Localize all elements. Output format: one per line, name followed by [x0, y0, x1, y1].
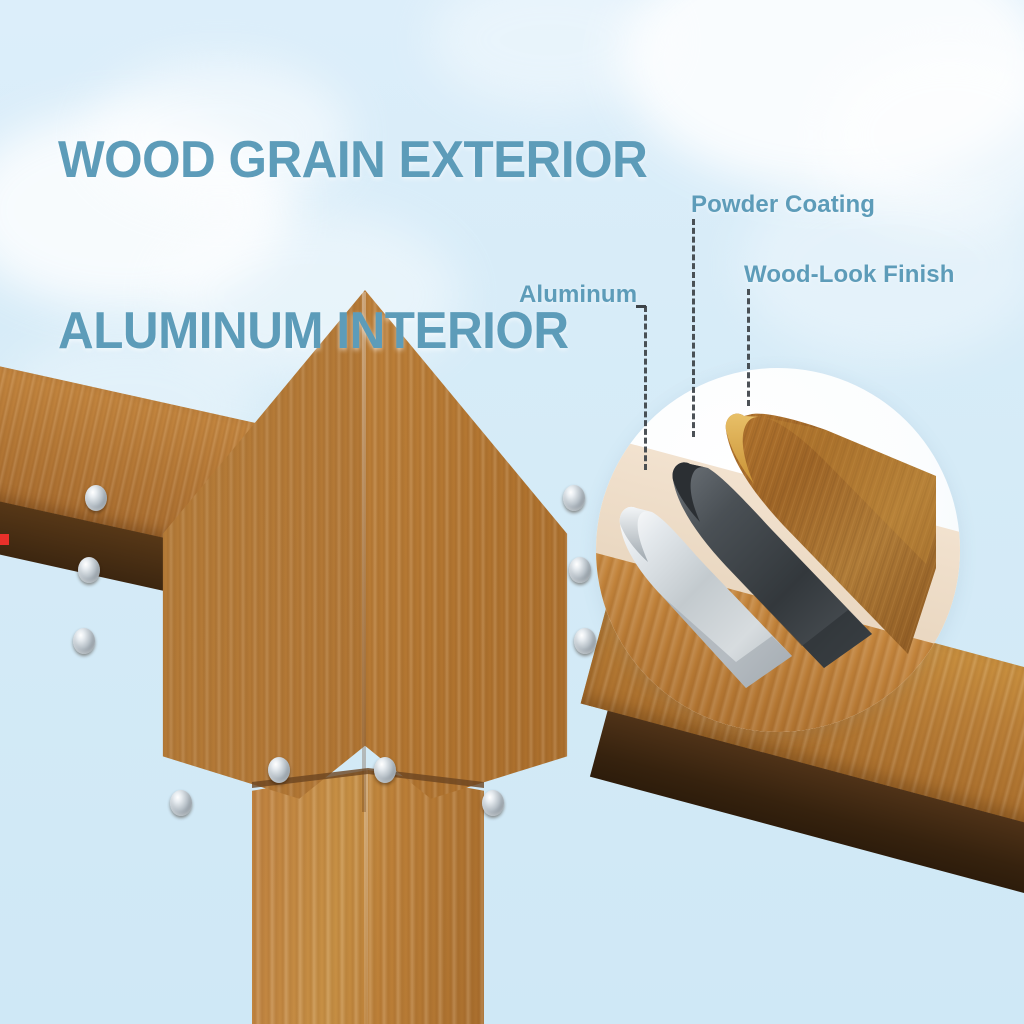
chrome-bolt — [170, 790, 192, 816]
chrome-bolt — [268, 757, 290, 783]
page-title: WOOD GRAIN EXTERIOR ALUMINUM INTERIOR — [58, 18, 913, 474]
chrome-bolt — [78, 557, 100, 583]
chrome-bolt — [569, 557, 591, 583]
chrome-bolt — [374, 757, 396, 783]
chrome-bolt — [85, 485, 107, 511]
vertical-post — [252, 770, 484, 1024]
chrome-bolt — [73, 628, 95, 654]
product-feature-image: Aluminum Powder Coating Wood-Look Finish… — [0, 0, 1024, 1024]
chrome-bolt — [563, 485, 585, 511]
red-marker — [0, 534, 9, 545]
headline-line-1: WOOD GRAIN EXTERIOR — [58, 132, 913, 189]
chrome-bolt — [482, 790, 504, 816]
chrome-bolt — [574, 628, 596, 654]
headline-line-2: ALUMINUM INTERIOR — [58, 303, 913, 360]
